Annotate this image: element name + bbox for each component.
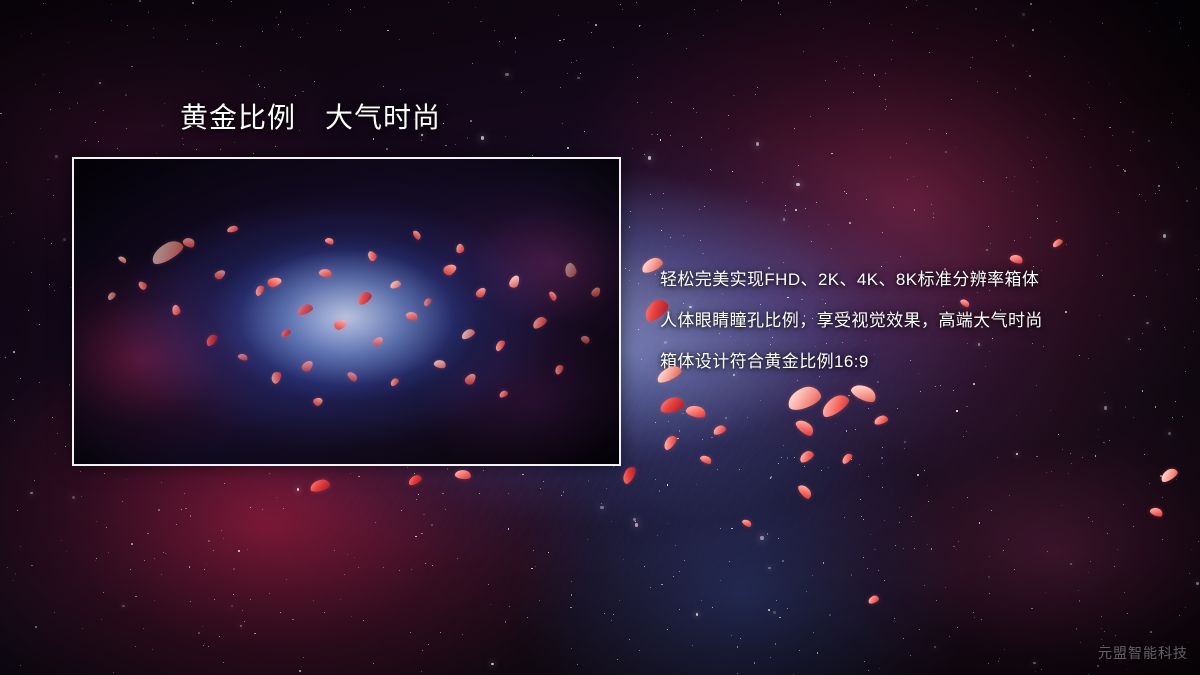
foreground-petals [0,0,1200,675]
watermark: 元盟智能科技 [1098,643,1188,663]
presentation-slide: 黄金比例 大气时尚 轻松完美实现FHD、2K、4K、8K标准分辨率箱体 人体眼睛… [0,0,1200,675]
